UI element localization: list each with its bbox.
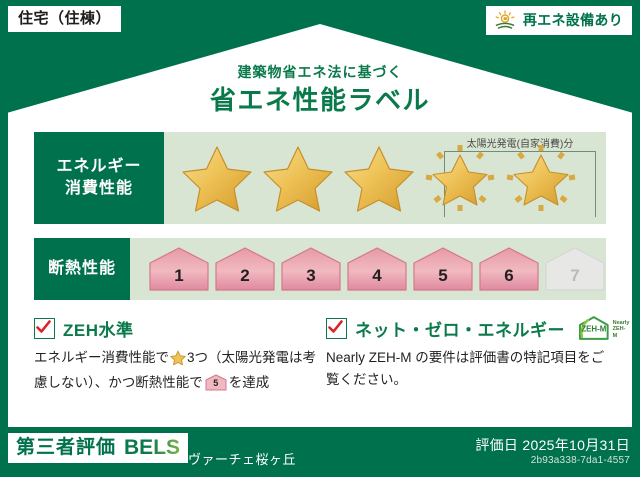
check-box-net-zero[interactable] [326,318,347,339]
insulation-level-number: 6 [478,266,540,286]
energy-label-line1: エネルギー [56,156,141,178]
house-icon-inline: 5 [205,374,227,391]
insulation-label-text: 断熱性能 [48,258,116,280]
insulation-performance-label: 断熱性能 [34,238,130,300]
insulation-level-number: 5 [412,266,474,286]
zeh-m-logo-sub: Nearly ZEH-M [613,320,630,341]
building-name: ヴァーチェ桜ヶ丘 [188,449,296,468]
check-box-zeh-standard[interactable] [34,318,55,339]
label-title: 省エネ性能ラベル [8,80,632,117]
insulation-level-number: 4 [346,266,408,286]
evaluation-date: 評価日 2025年10月31日 [475,435,630,455]
insulation-level-scale: 1 2 3 4 [130,246,606,292]
bels-certification-box: 第三者評価 BELS [8,433,188,463]
label-footer: 第三者評価 BELS ヴァーチェ桜ヶ丘 評価日 2025年10月31日 2b93… [0,427,640,477]
star-rating [164,141,580,215]
housing-type-tag: 住宅（住棟） [8,6,121,32]
star-filled [340,141,418,215]
insulation-level-house: 6 [478,246,540,292]
zeh-standard-text-1: エネルギー消費性能で [34,350,169,365]
bels-jp-label: 第三者評価 [16,438,116,457]
svg-text:ZEH-M: ZEH-M [581,324,606,333]
insulation-level-house: 2 [214,246,276,292]
zeh-standard-body: エネルギー消費性能で3つ（太陽光発電は考慮しない）、かつ断熱性能で5を達成 [34,347,324,395]
renewable-equipment-badge: 再エネ設備あり [486,6,632,35]
net-zero-energy-block: ネット・ゼロ・エネルギー ZEH-M Nearly ZEH-M Nearl [326,316,616,392]
zeh-m-logo: ZEH-M Nearly ZEH-M [577,315,630,341]
star-filled [259,141,337,215]
insulation-level-house: 4 [346,246,408,292]
net-zero-energy-body: Nearly ZEH-M の要件は評価書の特記項目をご覧ください。 [326,347,616,392]
star-filled [178,141,256,215]
insulation-level-number: 3 [280,266,342,286]
energy-performance-row: エネルギー 消費性能 太陽光発電(自家消費)分 [34,132,606,224]
insulation-level-house: 5 [412,246,474,292]
insulation-level-house-inactive: 7 [544,246,606,292]
zeh-standard-header: ZEH水準 [34,316,324,340]
zeh-standard-block: ZEH水準 エネルギー消費性能で3つ（太陽光発電は考慮しない）、かつ断熱性能で5… [34,316,324,395]
star-icon-inline [170,350,186,372]
insulation-performance-row: 断熱性能 1 2 [34,238,606,300]
label-subtitle: 建築物省エネ法に基づく [8,62,632,82]
insulation-level-house: 1 [148,246,210,292]
bels-en-label: BELS [124,437,180,458]
zeh-m-sub-line2: ZEH-M [613,326,626,338]
evaluation-id: 2b93a338-7da1-4557 [531,455,630,466]
sun-icon [493,10,517,30]
net-zero-energy-header: ネット・ゼロ・エネルギー ZEH-M Nearly ZEH-M [326,316,616,340]
insulation-level-number: 1 [148,266,210,286]
energy-label-root: 住宅（住棟） 再エネ設備あり 建築物省エネ法に基づく 省 [0,0,640,477]
insulation-level-number: 7 [544,266,606,286]
house-icon-level: 5 [205,376,227,391]
insulation-level-house: 3 [280,246,342,292]
zeh-m-sub-line1: Nearly [613,320,630,326]
net-zero-energy-title: ネット・ゼロ・エネルギー [355,316,565,341]
energy-rating-area: 太陽光発電(自家消費)分 [164,132,606,224]
zeh-standard-title: ZEH水準 [63,316,134,341]
energy-performance-label: エネルギー 消費性能 [34,132,164,224]
insulation-level-number: 2 [214,266,276,286]
zeh-standard-text-3: を達成 [229,375,270,390]
renewable-badge-label: 再エネ設備あり [523,13,623,27]
energy-label-line2: 消費性能 [65,178,133,200]
insulation-rating-area: 1 2 3 4 [130,238,606,300]
label-panel: 建築物省エネ法に基づく 省エネ性能ラベル エネルギー 消費性能 太陽光発電(自家… [8,24,632,427]
star-solar-sparkle [421,141,499,215]
star-solar-sparkle [502,141,580,215]
